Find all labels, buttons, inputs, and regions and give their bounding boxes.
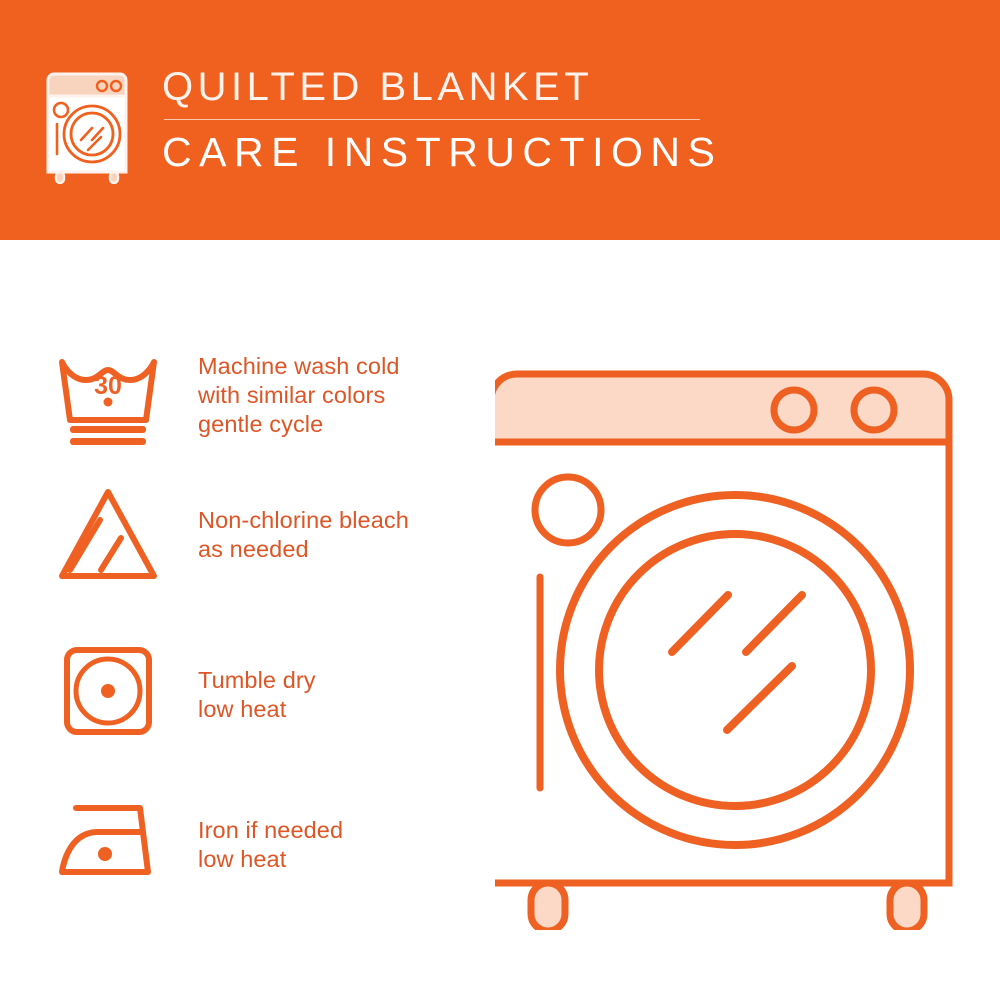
care-row-bleach: Non-chlorine bleach as needed — [48, 480, 468, 590]
front-load-washing-machine-illustration — [495, 330, 965, 930]
header-titles: QUILTED BLANKET CARE INSTRUCTIONS — [162, 62, 722, 176]
care-label-tumble-dry: Tumble dry low heat — [198, 666, 316, 724]
leg-left — [531, 883, 565, 930]
care-label-line: Machine wash cold — [198, 352, 400, 381]
care-row-iron: Iron if needed low heat — [48, 790, 468, 900]
care-label-line: Iron if needed — [198, 816, 343, 845]
care-label-line: with similar colors — [198, 381, 400, 410]
header-content: QUILTED BLANKET CARE INSTRUCTIONS — [44, 62, 722, 184]
care-row-machine-wash: 30 Machine wash cold with similar colors… — [48, 340, 468, 450]
title-divider — [164, 119, 700, 120]
page-title: QUILTED BLANKET — [162, 64, 722, 110]
leg-right — [890, 883, 924, 930]
non-chlorine-bleach-triangle-icon — [48, 480, 168, 590]
header-banner: QUILTED BLANKET CARE INSTRUCTIONS — [0, 0, 1000, 240]
care-label-line: low heat — [198, 695, 316, 724]
care-label-line: gentle cycle — [198, 410, 400, 439]
care-instructions-list: 30 Machine wash cold with similar colors… — [0, 240, 470, 1000]
wash-tub-30-gentle-icon: 30 — [48, 340, 168, 450]
care-label-line: Non-chlorine bleach — [198, 506, 409, 535]
care-label-line: as needed — [198, 535, 409, 564]
washing-machine-icon — [44, 66, 140, 184]
care-label-iron: Iron if needed low heat — [198, 816, 343, 874]
wash-temperature-label: 30 — [94, 372, 122, 400]
care-label-bleach: Non-chlorine bleach as needed — [198, 506, 409, 564]
care-label-machine-wash: Machine wash cold with similar colors ge… — [198, 352, 400, 439]
tumble-dry-low-heat-icon — [48, 640, 168, 750]
page-subtitle: CARE INSTRUCTIONS — [162, 128, 722, 176]
care-row-tumble-dry: Tumble dry low heat — [48, 640, 468, 750]
care-label-line: low heat — [198, 845, 343, 874]
care-label-line: Tumble dry — [198, 666, 316, 695]
iron-low-heat-icon — [48, 790, 168, 900]
